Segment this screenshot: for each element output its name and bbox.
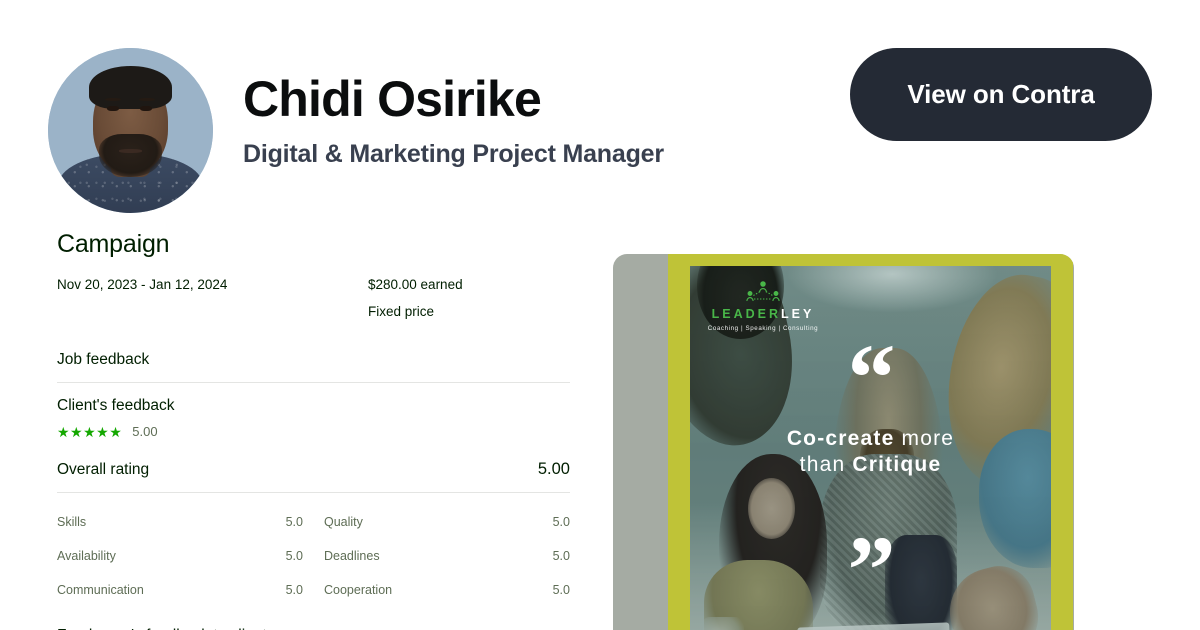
overall-rating-row: Overall rating 5.00 <box>57 460 570 479</box>
rating-value: 5.0 <box>286 583 303 597</box>
page-title: Chidi Osirike <box>243 72 664 126</box>
view-on-contra-button[interactable]: View on Contra <box>850 48 1152 141</box>
logo-tagline: Coaching | Speaking | Consulting <box>698 325 828 332</box>
avatar-hair <box>89 66 172 109</box>
rating-row: Communication 5.0 Cooperation 5.0 <box>57 583 570 617</box>
rating-cell: Skills 5.0 <box>57 515 303 529</box>
rating-label: Skills <box>57 515 86 529</box>
job-meta: Nov 20, 2023 - Jan 12, 2024 $280.00 earn… <box>57 277 572 333</box>
rating-cell: Communication 5.0 <box>57 583 303 597</box>
profile-share-card: Campaign Nov 20, 2023 - Jan 12, 2024 $28… <box>0 0 1200 630</box>
client-rating-stars-row: ★★★★★ 5.00 <box>57 424 572 440</box>
quote-open-icon: “ <box>690 344 1051 411</box>
divider <box>57 492 570 493</box>
portfolio-headline: Co-create more than Critique <box>690 426 1051 477</box>
rating-value: 5.0 <box>553 583 570 597</box>
rating-value: 5.0 <box>286 549 303 563</box>
job-amount-earned: $280.00 earned <box>368 277 463 292</box>
headline-line-1: Co-create more <box>690 426 1051 452</box>
job-feedback-panel: Campaign Nov 20, 2023 - Jan 12, 2024 $28… <box>57 228 572 630</box>
rating-label: Communication <box>57 583 144 597</box>
rating-cell: Deadlines 5.0 <box>324 549 570 563</box>
rating-row: Availability 5.0 Deadlines 5.0 <box>57 549 570 583</box>
divider <box>57 382 570 383</box>
job-feedback-heading: Job feedback <box>57 351 572 369</box>
job-title: Campaign <box>57 228 572 261</box>
logo-wordmark: LEADERLEY <box>698 308 828 321</box>
logo-wordmark-secondary: LEY <box>781 307 814 321</box>
freelancer-feedback-heading: Freelancer's feedback to client <box>57 627 572 630</box>
rating-row: Skills 5.0 Quality 5.0 <box>57 515 570 549</box>
leaderley-logo: LEADERLEY Coaching | Speaking | Consulti… <box>698 280 828 332</box>
profile-header: Chidi Osirike Digital & Marketing Projec… <box>0 0 1200 232</box>
headline-emphasis: Critique <box>852 453 941 476</box>
portfolio-frame: LEADERLEY Coaching | Speaking | Consulti… <box>668 254 1073 630</box>
rating-value: 5.0 <box>553 515 570 529</box>
client-feedback-heading: Client's feedback <box>57 397 572 415</box>
avatar-eye <box>140 106 152 111</box>
rating-value: 5.0 <box>553 549 570 563</box>
rating-label: Deadlines <box>324 549 380 563</box>
rating-cell: Quality 5.0 <box>324 515 570 529</box>
identity-block: Chidi Osirike Digital & Marketing Projec… <box>243 72 664 169</box>
avatar-beard <box>99 134 162 177</box>
rating-cell: Cooperation 5.0 <box>324 583 570 597</box>
rating-breakdown-grid: Skills 5.0 Quality 5.0 Availability 5.0 … <box>57 515 570 617</box>
headline-plain: than <box>800 453 846 476</box>
people-group-icon <box>741 280 785 306</box>
job-price-type: Fixed price <box>368 304 434 319</box>
headline-line-2: than Critique <box>690 452 1051 478</box>
rating-label: Cooperation <box>324 583 392 597</box>
job-date-range: Nov 20, 2023 - Jan 12, 2024 <box>57 277 227 292</box>
rating-label: Quality <box>324 515 363 529</box>
headline-emphasis: Co-create <box>787 427 895 450</box>
portfolio-photo: LEADERLEY Coaching | Speaking | Consulti… <box>690 266 1051 630</box>
rating-label: Availability <box>57 549 116 563</box>
overall-rating-value: 5.00 <box>538 460 570 479</box>
profile-role: Digital & Marketing Project Manager <box>243 140 664 169</box>
star-rating-icon: ★★★★★ <box>57 425 122 439</box>
rating-value: 5.0 <box>286 515 303 529</box>
quote-close-icon: ” <box>690 536 1051 603</box>
headline-plain: more <box>902 427 955 450</box>
avatar-eye <box>107 106 119 111</box>
logo-wordmark-primary: LEADER <box>712 307 781 321</box>
avatar <box>48 48 213 213</box>
overall-rating-label: Overall rating <box>57 461 149 479</box>
portfolio-image-card[interactable]: LEADERLEY Coaching | Speaking | Consulti… <box>613 254 1074 630</box>
avatar-mouth <box>119 149 142 153</box>
rating-cell: Availability 5.0 <box>57 549 303 563</box>
client-rating-value: 5.00 <box>132 425 157 438</box>
